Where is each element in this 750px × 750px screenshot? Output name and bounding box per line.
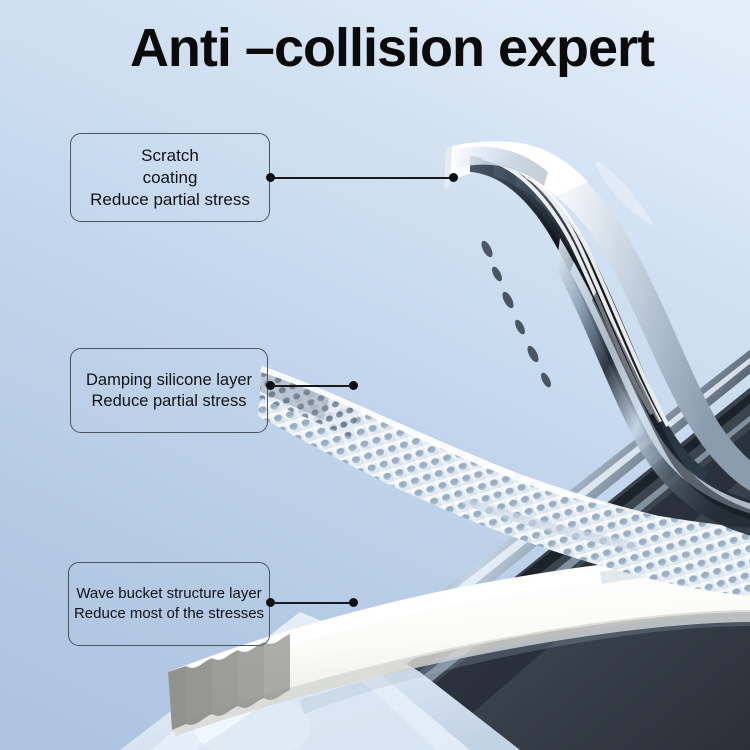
callout-scratch-coating-text: Scratch coating Reduce partial stress [90, 145, 250, 211]
leader-dot-end [349, 381, 358, 390]
callout-wave-bucket-structure-layer: Wave bucket structure layer Reduce most … [68, 562, 270, 646]
callout-line: coating [90, 167, 250, 189]
callout-line: Reduce partial stress [86, 391, 252, 412]
callout-scratch-coating: Scratch coating Reduce partial stress [70, 133, 270, 222]
leader-line-wave-bucket-structure-layer [266, 596, 358, 610]
callout-damping-silicone-layer: Damping silicone layer Reduce partial st… [70, 348, 268, 433]
page-title: Anti –collision expert [0, 14, 750, 82]
callout-line: Wave bucket structure layer [74, 584, 264, 604]
leader-line-segment [270, 602, 354, 604]
callout-wave-bucket-structure-layer-text: Wave bucket structure layer Reduce most … [74, 584, 264, 624]
infographic-canvas: Anti –collision expert Scratch coating R… [0, 0, 750, 750]
leader-dot-end [349, 598, 358, 607]
leader-line-damping-silicone-layer [266, 379, 358, 393]
callout-line: Scratch [90, 145, 250, 167]
leader-line-segment [270, 177, 454, 179]
leader-line-segment [270, 385, 354, 387]
strip-print-marks [479, 239, 553, 389]
leader-dot-end [449, 173, 458, 182]
callout-line: Reduce most of the stresses [74, 604, 264, 624]
callout-line: Reduce partial stress [90, 189, 250, 211]
leader-line-scratch-coating [266, 171, 458, 185]
callout-damping-silicone-layer-text: Damping silicone layer Reduce partial st… [86, 370, 252, 412]
callout-line: Damping silicone layer [86, 370, 252, 391]
